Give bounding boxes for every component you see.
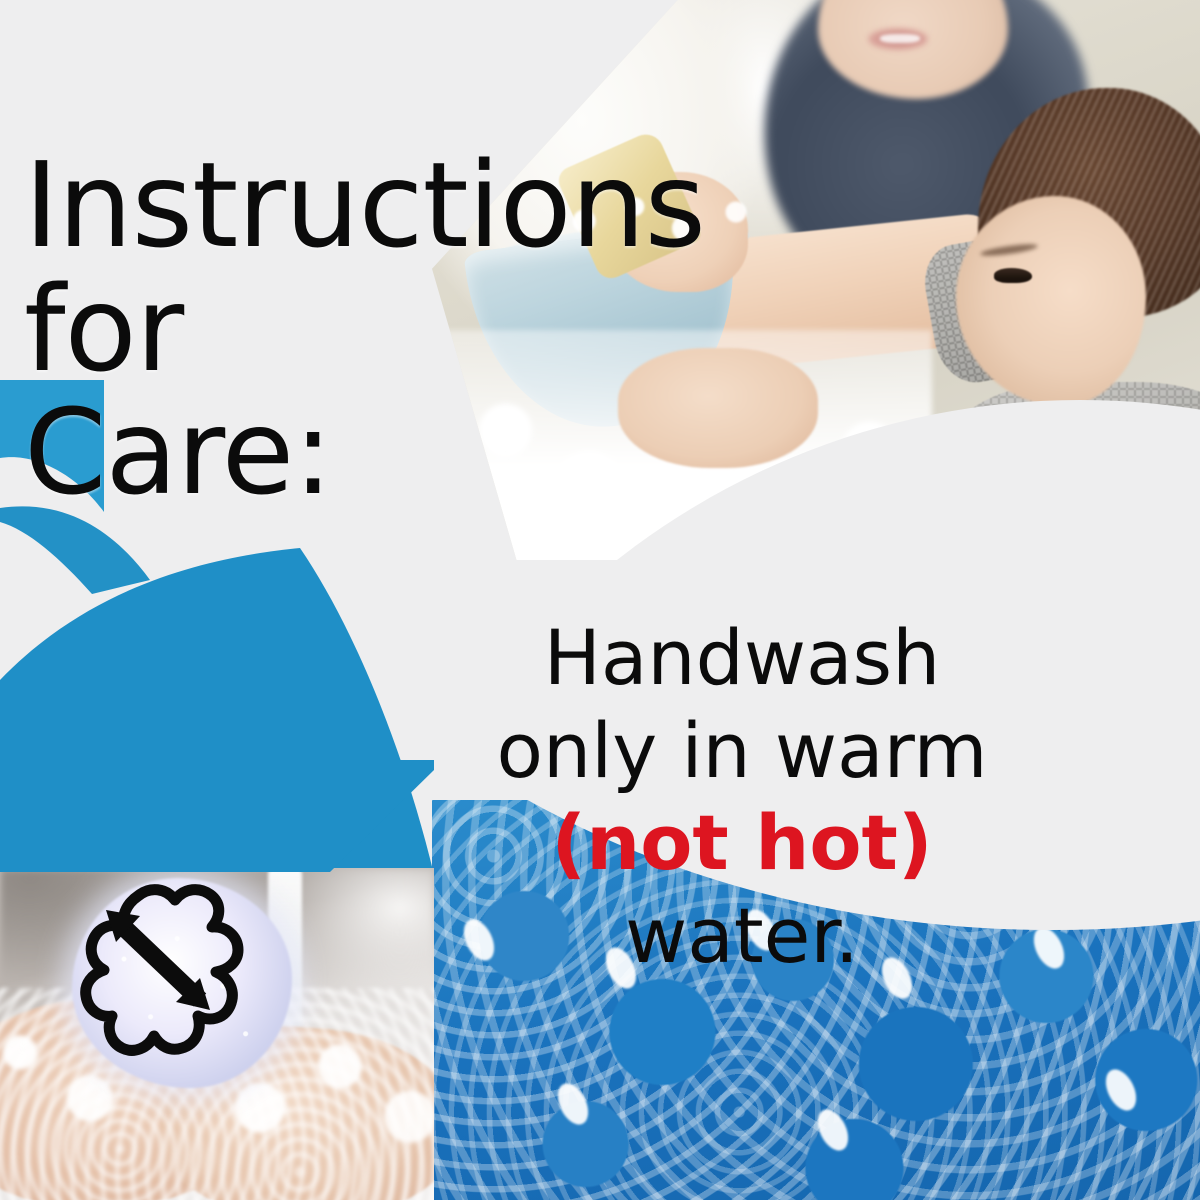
blue-wedge-decoration [0, 760, 434, 872]
headline-line-1: Instructions [24, 136, 705, 274]
instruction-line-4: water. [432, 890, 1052, 983]
care-instruction-text: Handwash only in warm (not hot) water. [432, 612, 1052, 983]
bubble-highlight [812, 1105, 855, 1156]
bubble-highlight [1100, 1065, 1143, 1116]
poster-headline: Instructions for Care: [24, 148, 804, 509]
care-instructions-poster: Instructions for Care: Handwash only in … [0, 0, 1200, 1200]
mother-teeth [880, 34, 920, 43]
blue-wedge-shape [0, 760, 434, 872]
photo-soapy-hands [0, 868, 434, 1200]
quatrefoil-cookie-cutter-icon [80, 882, 270, 1082]
instruction-line-2: only in warm [432, 705, 1052, 798]
cutter-diagonal-bar [114, 918, 200, 1000]
instruction-line-1: Handwash [432, 612, 1052, 705]
bubble-highlight [552, 1079, 595, 1130]
headline-line-2: for [24, 272, 804, 386]
headline-line-3: Care: [24, 395, 804, 509]
instruction-warning-not-hot: (not hot) [432, 797, 1052, 890]
child-eye [994, 268, 1032, 283]
